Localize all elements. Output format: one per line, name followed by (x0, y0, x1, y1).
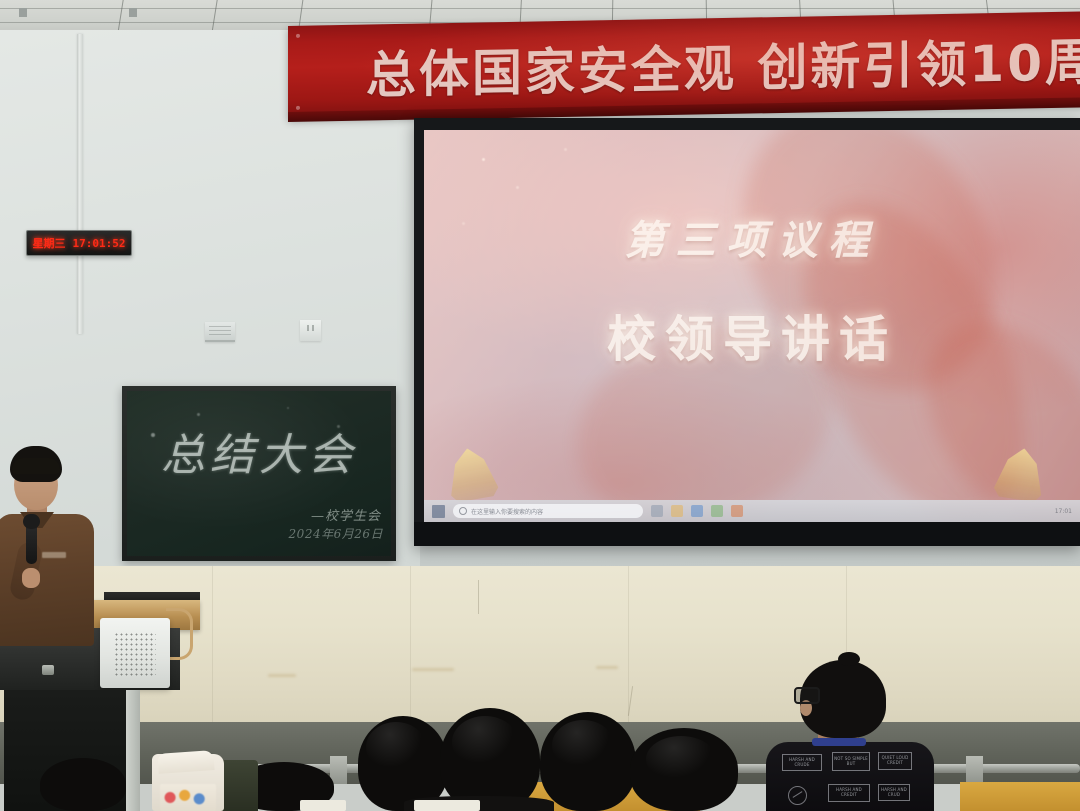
presenter-hand (22, 568, 40, 588)
file-explorer-icon[interactable] (671, 505, 683, 517)
blackboard: 总结大会 —校学生会 2024年6月26日 (127, 391, 391, 556)
blackboard-date: 2024年6月26日 (289, 525, 383, 542)
projection-screen-frame: 第三项议程 校领导讲话 在这里输入你要搜索的内容 17:01 (414, 118, 1080, 546)
search-icon (459, 507, 467, 515)
clock-time: 17:01:52 (73, 237, 126, 250)
audience-head (40, 758, 126, 811)
presenter-fringe (12, 458, 60, 474)
presenter (0, 446, 108, 646)
desk-edge (300, 800, 346, 811)
slide-agenda-title: 校领导讲话 (424, 300, 1080, 371)
glasses-icon (794, 687, 820, 704)
blackboard-signature: —校学生会 (311, 505, 381, 524)
windows-taskbar[interactable]: 在这里输入你要搜索的内容 17:01 (424, 500, 1080, 522)
podium-leg (126, 690, 140, 811)
front-audience-collar (812, 738, 866, 746)
banner-text: 总体国家安全观 创新引领10周 (366, 22, 1080, 107)
tee-print-3: QUIET LOUD CREDIT (878, 752, 912, 770)
amplifier-handle (166, 608, 193, 660)
search-input[interactable]: 在这里输入你要搜索的内容 (453, 504, 643, 518)
projection-screen: 第三项议程 校领导讲话 在这里输入你要搜索的内容 17:01 (424, 130, 1080, 522)
desk-edge (414, 800, 480, 811)
browser-icon[interactable] (691, 505, 703, 517)
slide-agenda-number: 第三项议程 (424, 208, 1080, 266)
screen-bottom-bar (414, 522, 1080, 546)
dark-bag (218, 760, 258, 811)
rail-bracket (966, 756, 983, 784)
search-placeholder: 在这里输入你要搜索的内容 (471, 507, 543, 516)
microphone-head (23, 514, 40, 529)
led-wall-clock: 星期三 17:01:52 (26, 230, 132, 256)
hair-sheen (552, 720, 614, 770)
app-icon-orange[interactable] (731, 505, 743, 517)
tote-bag-print (160, 784, 216, 811)
tray-clock: 17:01 (1055, 508, 1072, 515)
blackboard-title: 总结大会 (127, 419, 391, 483)
power-outlet (300, 320, 321, 341)
seat-back (960, 782, 1080, 811)
tee-logo-icon (788, 786, 807, 805)
system-tray[interactable]: 17:01 (1055, 508, 1072, 515)
tee-print-2: NOT SO SIMPLE BUT (832, 752, 870, 771)
front-audience-body: HARSH AND CRUDE NOT SO SIMPLE BUT QUIET … (766, 742, 934, 811)
hair-sheen (452, 716, 518, 768)
app-icon-green[interactable] (711, 505, 723, 517)
hair-sheen (366, 722, 426, 772)
task-view-icon[interactable] (651, 505, 663, 517)
light-switch[interactable] (205, 322, 235, 342)
front-audience-hair-tuft (838, 652, 860, 666)
tote-bag-fold (157, 750, 214, 774)
blackboard-frame: 总结大会 —校学生会 2024年6月26日 (122, 386, 396, 561)
tee-print-5: HARSH AND CRUD (878, 784, 910, 801)
start-button[interactable] (432, 505, 445, 518)
tee-print-1: HARSH AND CRUDE (782, 754, 822, 771)
clock-bracket-left (19, 8, 27, 17)
presenter-shirt-logo (42, 552, 66, 558)
speaker-grill-icon (114, 632, 156, 676)
clock-bracket-right (129, 8, 137, 17)
wall-conduit (77, 34, 83, 334)
podium-lock (42, 665, 54, 675)
clock-weekday: 星期三 (33, 235, 66, 251)
lecture-hall-photo: 总体国家安全观 创新引领10周 第三项议程 校领导讲话 在这里输入你要搜索的内容 (0, 0, 1080, 811)
hair-sheen (646, 736, 716, 782)
amplifier (100, 618, 170, 688)
tee-print-4: HARSH AND CREDIT (828, 784, 870, 802)
